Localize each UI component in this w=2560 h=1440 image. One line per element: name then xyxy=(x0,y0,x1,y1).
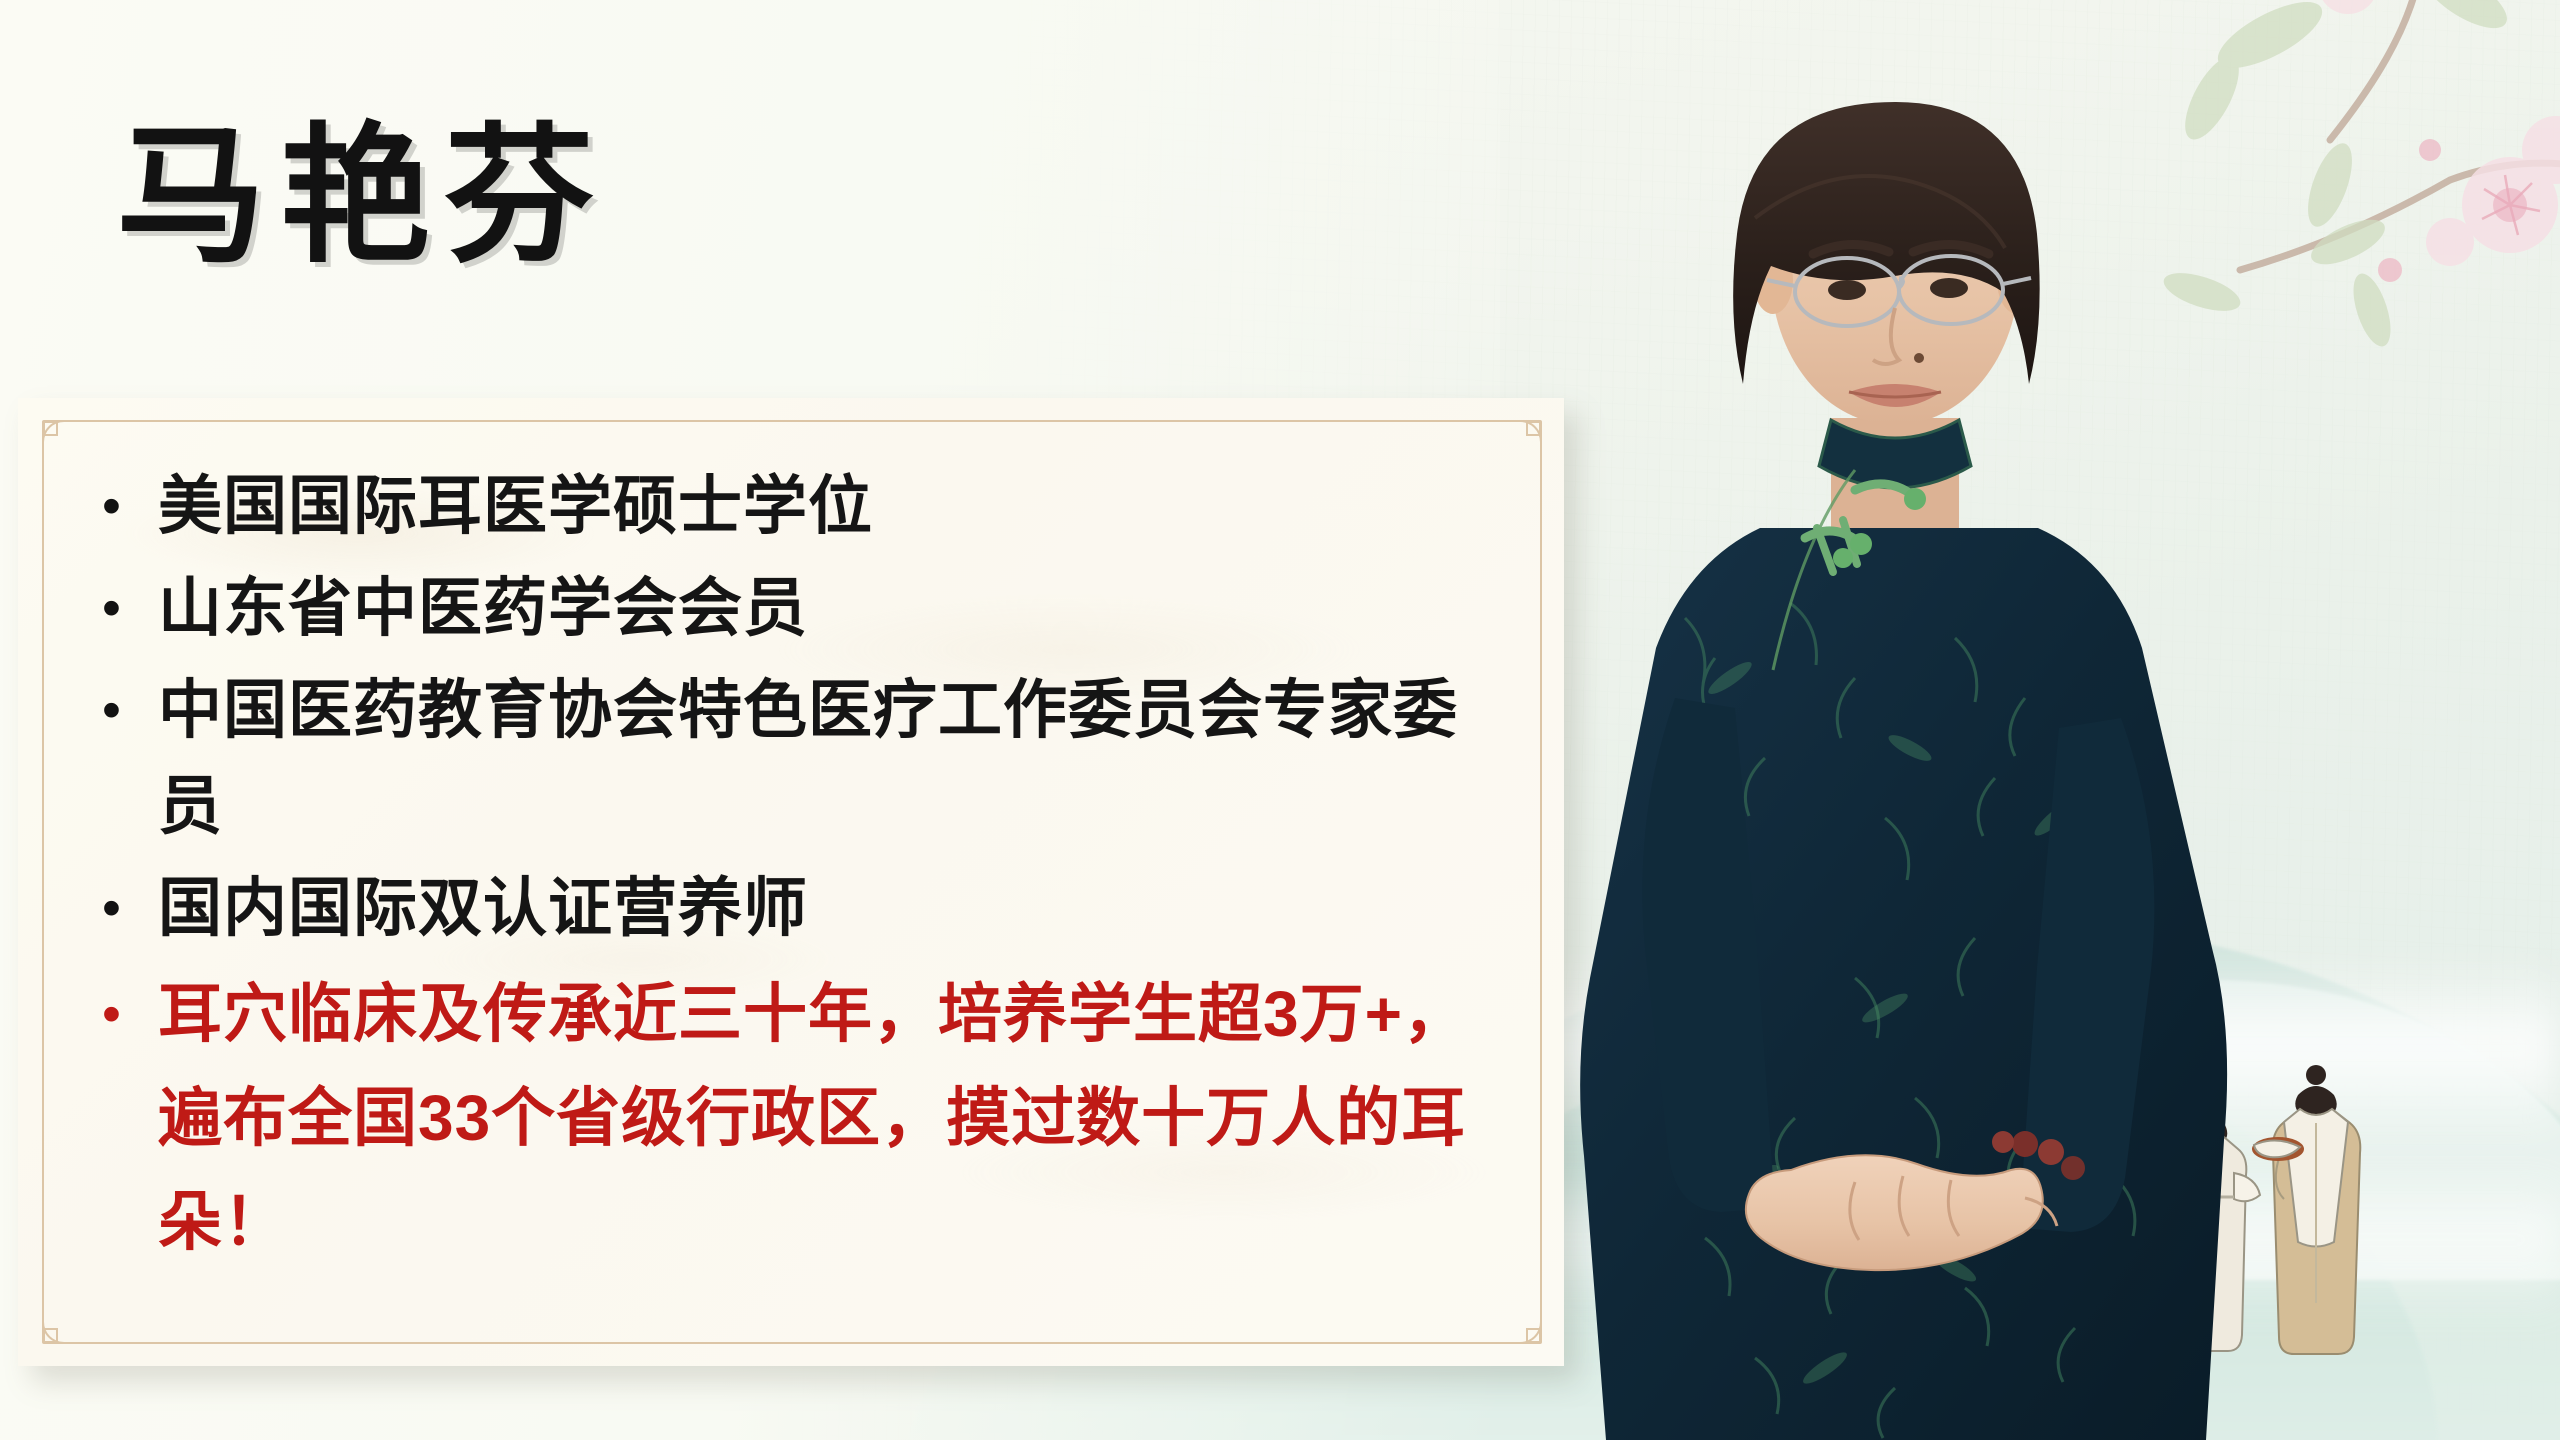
slide-root: 马艳芬 • 美国国际耳医学硕士学位 • 山东省中医药学会会员 • 中国医药教育协… xyxy=(0,0,2560,1440)
credentials-panel: • 美国国际耳医学硕士学位 • 山东省中医药学会会员 • 中国医药教育协会特色医… xyxy=(18,398,1564,1366)
eye-right xyxy=(1930,278,1968,298)
page-title: 马艳芬 xyxy=(116,118,608,276)
bullet-marker-icon: • xyxy=(96,962,158,1066)
bullet-marker-icon: • xyxy=(96,662,158,758)
list-item-label: 国内国际双认证营养师 xyxy=(158,860,1488,956)
bullet-marker-icon: • xyxy=(96,458,158,554)
portrait-photo xyxy=(1555,58,2255,1440)
bullet-marker-icon: • xyxy=(96,860,158,956)
list-item-highlighted: • 耳穴临床及传承近三十年，培养学生超3万+，遍布全国33个省级行政区，摸过数十… xyxy=(96,962,1510,1274)
corner-ornament-top-left xyxy=(42,420,90,468)
list-item-label: 中国医药教育协会特色医疗工作委员会专家委员 xyxy=(158,662,1488,854)
list-item-label: 山东省中医药学会会员 xyxy=(158,560,1488,656)
credentials-list: • 美国国际耳医学硕士学位 • 山东省中医药学会会员 • 中国医药教育协会特色医… xyxy=(96,458,1510,1280)
list-item: • 国内国际双认证营养师 xyxy=(96,860,1510,956)
corner-ornament-bottom-left xyxy=(42,1296,90,1344)
eye-left xyxy=(1828,280,1866,300)
corner-ornament-bottom-right xyxy=(1494,1296,1542,1344)
scholar-figure-right xyxy=(2252,1065,2360,1354)
mole xyxy=(1914,353,1924,363)
bullet-marker-icon: • xyxy=(96,560,158,656)
list-item: • 山东省中医药学会会员 xyxy=(96,560,1510,656)
list-item: • 中国医药教育协会特色医疗工作委员会专家委员 xyxy=(96,662,1510,854)
list-item-label: 美国国际耳医学硕士学位 xyxy=(158,458,1488,554)
list-item: • 美国国际耳医学硕士学位 xyxy=(96,458,1510,554)
list-item-label: 耳穴临床及传承近三十年，培养学生超3万+，遍布全国33个省级行政区，摸过数十万人… xyxy=(158,962,1488,1274)
